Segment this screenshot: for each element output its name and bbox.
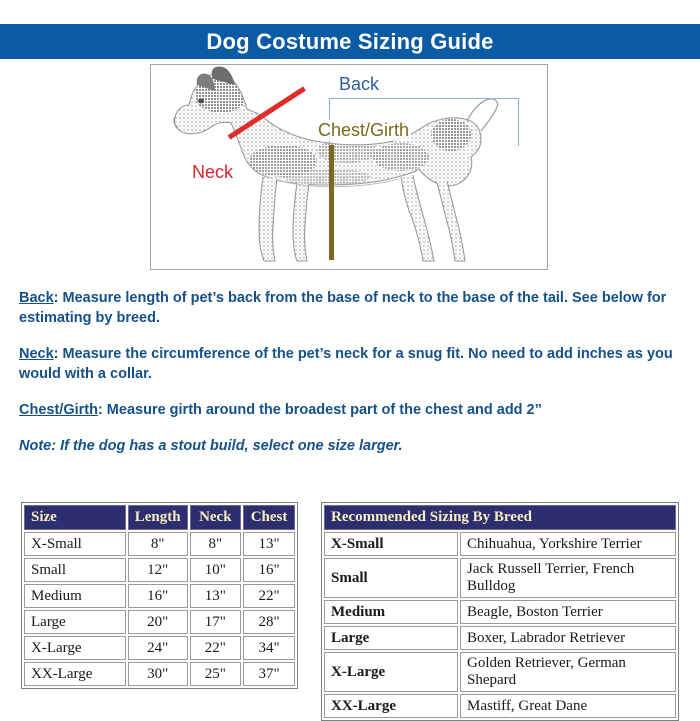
size-cell: Small: [324, 558, 458, 598]
length-cell: 30": [128, 662, 188, 686]
table-row: X-Large Golden Retriever, German Shepard: [324, 652, 676, 692]
breed-cell: Mastiff, Great Dane: [460, 694, 676, 718]
size-table-header-size: Size: [24, 505, 126, 530]
instruction-text-chest: : Measure girth around the broadest part…: [98, 402, 542, 418]
instruction-term-chest: Chest/Girth: [19, 402, 98, 418]
table-row: Large 20" 17" 28": [24, 610, 295, 634]
table-row: X-Small Chihuahua, Yorkshire Terrier: [324, 532, 676, 556]
table-row: Medium Beagle, Boston Terrier: [324, 600, 676, 624]
breed-cell: Jack Russell Terrier, French Bulldog: [460, 558, 676, 598]
neck-cell: 8": [190, 532, 242, 556]
chest-cell: 37": [243, 662, 295, 686]
breed-table-title: Recommended Sizing By Breed: [324, 505, 676, 530]
length-cell: 8": [128, 532, 188, 556]
size-cell: Large: [324, 626, 458, 650]
instruction-text-neck: : Measure the circumference of the pet’s…: [19, 346, 673, 382]
size-table-header-length: Length: [128, 505, 188, 530]
page-title-bar: Dog Costume Sizing Guide: [0, 24, 700, 59]
table-row: XX-Large Mastiff, Great Dane: [324, 694, 676, 718]
instruction-back: Back: Measure length of pet’s back from …: [19, 288, 684, 328]
instruction-text-back: : Measure length of pet’s back from the …: [19, 290, 666, 326]
length-cell: 20": [128, 610, 188, 634]
chest-cell: 34": [243, 636, 295, 660]
length-cell: 16": [128, 584, 188, 608]
diagram-label-chest: Chest/Girth: [316, 120, 411, 141]
size-cell: Large: [24, 610, 126, 634]
table-row: Small Jack Russell Terrier, French Bulld…: [324, 558, 676, 598]
instruction-note: Note: If the dog has a stout build, sele…: [19, 436, 684, 456]
instruction-chest: Chest/Girth: Measure girth around the br…: [19, 400, 684, 420]
breed-table-header-row: Recommended Sizing By Breed: [324, 505, 676, 530]
chest-cell: 16": [243, 558, 295, 582]
table-row: Large Boxer, Labrador Retriever: [324, 626, 676, 650]
size-cell: X-Large: [24, 636, 126, 660]
table-row: XX-Large 30" 25" 37": [24, 662, 295, 686]
instruction-neck: Neck: Measure the circumference of the p…: [19, 344, 684, 384]
neck-cell: 22": [190, 636, 242, 660]
table-row: Small 12" 10" 16": [24, 558, 295, 582]
table-row: Medium 16" 13" 22": [24, 584, 295, 608]
size-cell: Small: [24, 558, 126, 582]
size-table-header-row: Size Length Neck Chest: [24, 505, 295, 530]
instruction-term-note: Note: [19, 438, 51, 454]
size-cell: Medium: [24, 584, 126, 608]
neck-cell: 10": [190, 558, 242, 582]
diagram-label-neck: Neck: [192, 162, 233, 183]
table-row: X-Small 8" 8" 13": [24, 532, 295, 556]
instruction-text-note: : If the dog has a stout build, select o…: [51, 438, 402, 454]
dog-measurement-diagram: Back Chest/Girth Neck: [150, 64, 548, 270]
length-cell: 12": [128, 558, 188, 582]
size-cell: X-Small: [324, 532, 458, 556]
measurement-instructions: Back: Measure length of pet’s back from …: [19, 288, 684, 456]
breed-cell: Beagle, Boston Terrier: [460, 600, 676, 624]
chest-cell: 28": [243, 610, 295, 634]
size-cell: X-Small: [24, 532, 126, 556]
chest-cell: 22": [243, 584, 295, 608]
page-title: Dog Costume Sizing Guide: [206, 29, 493, 55]
size-table-header-chest: Chest: [243, 505, 295, 530]
neck-cell: 17": [190, 610, 242, 634]
chest-cell: 13": [243, 532, 295, 556]
size-cell: Medium: [324, 600, 458, 624]
size-measurement-table: Size Length Neck Chest X-Small 8" 8" 13"…: [21, 502, 298, 689]
length-cell: 24": [128, 636, 188, 660]
size-cell: X-Large: [324, 652, 458, 692]
size-cell: XX-Large: [324, 694, 458, 718]
breed-recommendation-table: Recommended Sizing By Breed X-Small Chih…: [321, 502, 679, 721]
table-row: X-Large 24" 22" 34": [24, 636, 295, 660]
breed-cell: Chihuahua, Yorkshire Terrier: [460, 532, 676, 556]
instruction-term-neck: Neck: [19, 346, 54, 362]
chest-measurement-line: [329, 145, 334, 260]
instruction-term-back: Back: [19, 290, 54, 306]
breed-cell: Boxer, Labrador Retriever: [460, 626, 676, 650]
breed-cell: Golden Retriever, German Shepard: [460, 652, 676, 692]
neck-cell: 25": [190, 662, 242, 686]
size-table-header-neck: Neck: [190, 505, 242, 530]
neck-cell: 13": [190, 584, 242, 608]
size-cell: XX-Large: [24, 662, 126, 686]
diagram-label-back: Back: [339, 74, 379, 95]
